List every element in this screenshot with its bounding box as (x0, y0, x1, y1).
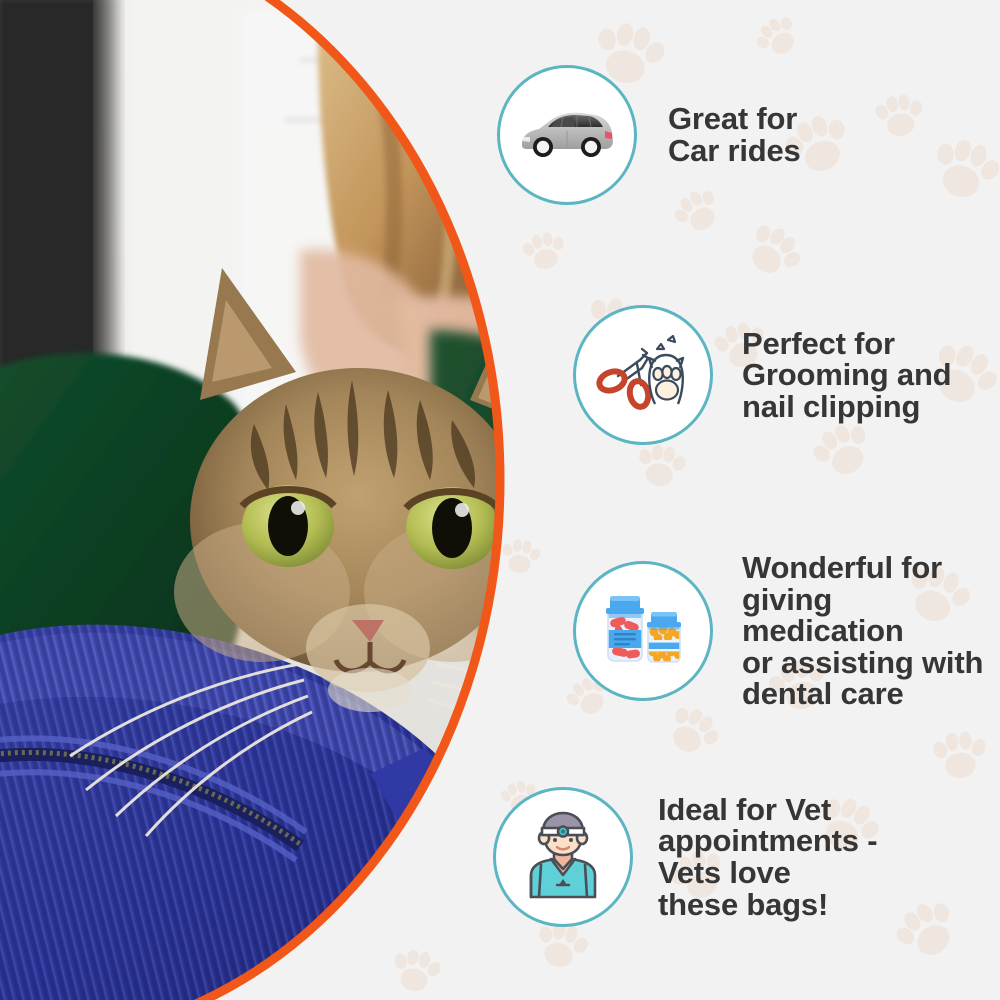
veterinarian-icon (511, 805, 615, 909)
feature-icon-circle (493, 787, 633, 927)
feature-label: Wonderful for giving medication or assis… (742, 552, 1000, 710)
car-icon (515, 83, 619, 187)
pill-bottles-icon (590, 578, 696, 684)
nail-clipper-paw-icon (590, 322, 696, 428)
feature-label: Ideal for Vet appointments - Vets love t… (658, 794, 877, 920)
feature-vet-appointments[interactable]: Ideal for Vet appointments - Vets love t… (493, 787, 877, 927)
feature-car-rides[interactable]: Great for Car rides (497, 65, 801, 205)
infographic-canvas: Great for Car rides (0, 0, 1000, 1000)
feature-medication[interactable]: Wonderful for giving medication or assis… (573, 552, 1000, 710)
feature-icon-circle (497, 65, 637, 205)
feature-icon-circle (573, 305, 713, 445)
feature-label: Great for Car rides (668, 103, 801, 166)
feature-grooming[interactable]: Perfect for Grooming and nail clipping (573, 305, 951, 445)
feature-icon-circle (573, 561, 713, 701)
feature-label: Perfect for Grooming and nail clipping (742, 328, 951, 423)
